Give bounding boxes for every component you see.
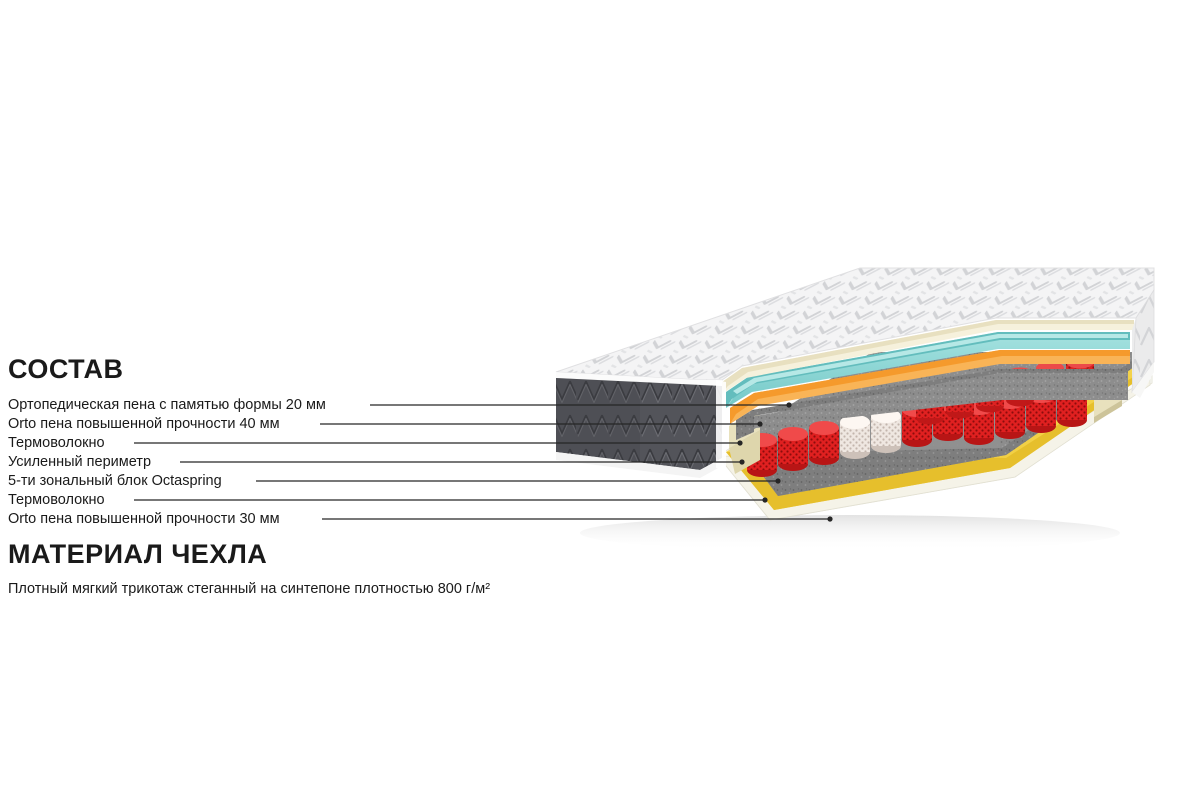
cover-material-description: Плотный мягкий трикотаж стеганный на син… xyxy=(8,580,490,599)
page-title-cover-material: МАТЕРИАЛ ЧЕХЛА xyxy=(8,539,267,570)
spec-item-memory-foam: Ортопедическая пена с памятью формы 20 м… xyxy=(8,396,326,415)
cutaway-seam xyxy=(716,380,726,470)
spec-item-thermo-fiber-bottom: Термоволокно xyxy=(8,491,105,510)
spec-item-octaspring: 5-ти зональный блок Octaspring xyxy=(8,472,222,491)
spec-item-orto-foam-30: Orto пена повышенной прочности 30 мм xyxy=(8,510,280,529)
product-composition-page: СОСТАВ Ортопедическая пена с памятью фор… xyxy=(0,0,1191,794)
drop-shadow xyxy=(580,515,1120,551)
spec-item-thermo-fiber-top: Термоволокно xyxy=(8,434,105,453)
spec-item-orto-foam-40: Orto пена повышенной прочности 40 мм xyxy=(8,415,280,434)
page-title-composition: СОСТАВ xyxy=(8,354,123,385)
spec-item-reinforced-perimeter: Усиленный периметр xyxy=(8,453,151,472)
